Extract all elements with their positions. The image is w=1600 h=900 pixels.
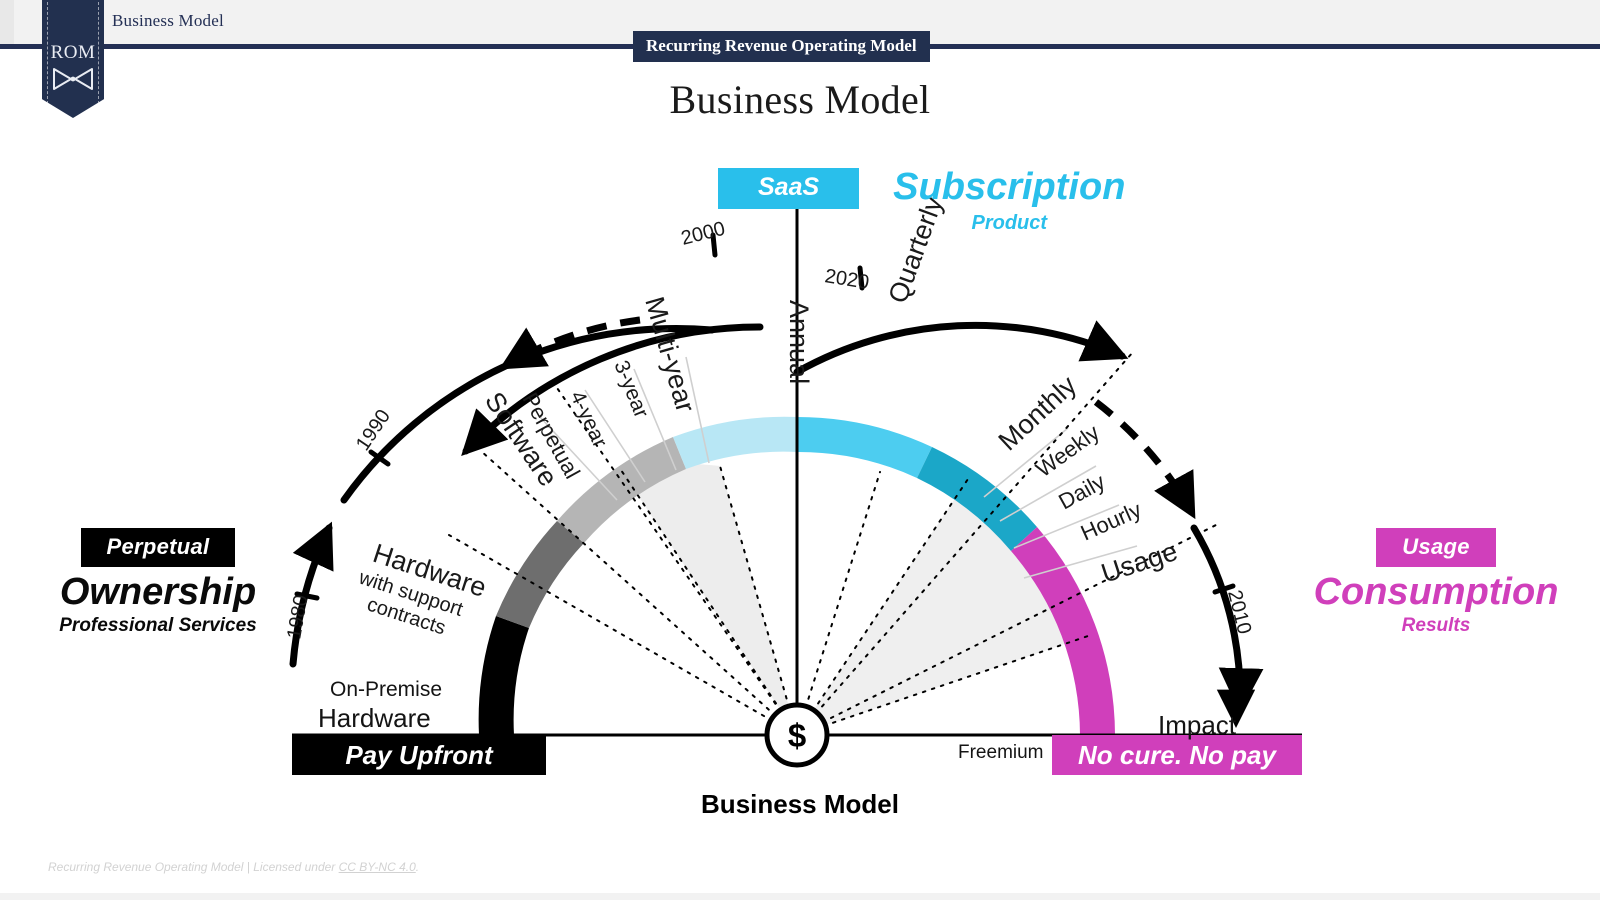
left-headline-ownership: Ownership: [28, 571, 288, 614]
footer-text: Recurring Revenue Operating Model | Lice…: [48, 860, 339, 874]
arc-2020-right: [797, 325, 1122, 372]
wedge-usage: [797, 476, 1088, 735]
footer-tail: .: [416, 860, 419, 874]
right-legend-block: Usage Consumption Results: [1306, 528, 1566, 637]
left-chip-perpetual[interactable]: Perpetual: [81, 528, 236, 567]
right-headline-consumption: Consumption: [1306, 571, 1566, 614]
radial-label-annual: Annual: [784, 300, 814, 384]
window-bottom-strip: [0, 893, 1600, 900]
business-model-radial-diagram: 1980 1990 2000 2020 2010 Software Perpet…: [0, 0, 1600, 900]
year-label-2020: 2020: [823, 265, 870, 294]
left-legend-block: Perpetual Ownership Professional Service…: [28, 528, 288, 637]
right-chip-usage[interactable]: Usage: [1376, 528, 1496, 567]
radial-label-3-year: 3-year: [609, 357, 653, 421]
era-year-ticks: [297, 235, 1233, 598]
footer-license-link[interactable]: CC BY-NC 4.0: [339, 860, 416, 874]
ring-segment-annual-left: [673, 417, 797, 469]
ring-segment-pay-upfront: [479, 616, 529, 735]
footer-license: Recurring Revenue Operating Model | Lice…: [48, 860, 419, 874]
top-subline-product: Product: [893, 212, 1125, 235]
radial-label-multi-year: Multi-year: [639, 293, 701, 415]
top-legend-block: SaaS Subscription Product: [718, 168, 1125, 235]
deck-banner: Recurring Revenue Operating Model: [633, 31, 930, 62]
top-legend-text: Subscription Product: [893, 168, 1125, 235]
top-headline-subscription: Subscription: [893, 168, 1125, 206]
top-chip-saas[interactable]: SaaS: [718, 168, 859, 209]
label-on-premise: On-Premise: [330, 678, 442, 702]
year-label-2010: 2010: [1223, 588, 1255, 637]
right-subline-results: Results: [1306, 615, 1566, 637]
radial-label-hourly: Hourly: [1077, 497, 1145, 546]
radial-label-daily: Daily: [1054, 469, 1109, 515]
ring-segment-hardware-support: [496, 521, 584, 628]
label-hardware: Hardware: [318, 703, 431, 734]
center-caption-business-model: Business Model: [0, 789, 1600, 820]
banner-no-cure-no-pay: No cure. No pay: [1052, 735, 1302, 775]
wedge-group: [621, 464, 1088, 735]
center-node[interactable]: $: [767, 705, 827, 765]
banner-pay-upfront: Pay Upfront: [292, 735, 546, 775]
hardware-support-label: Hardware with support contracts: [348, 536, 490, 648]
left-subline-professional-services: Professional Services: [28, 615, 288, 637]
label-impact: Impact: [1158, 710, 1236, 741]
label-freemium: Freemium: [958, 742, 1044, 764]
arc-dashed-right: [1096, 402, 1192, 513]
ring-segment-annual-quarterly: [797, 417, 932, 478]
dollar-icon: $: [788, 717, 806, 754]
radial-label-usage: Usage: [1098, 536, 1181, 589]
